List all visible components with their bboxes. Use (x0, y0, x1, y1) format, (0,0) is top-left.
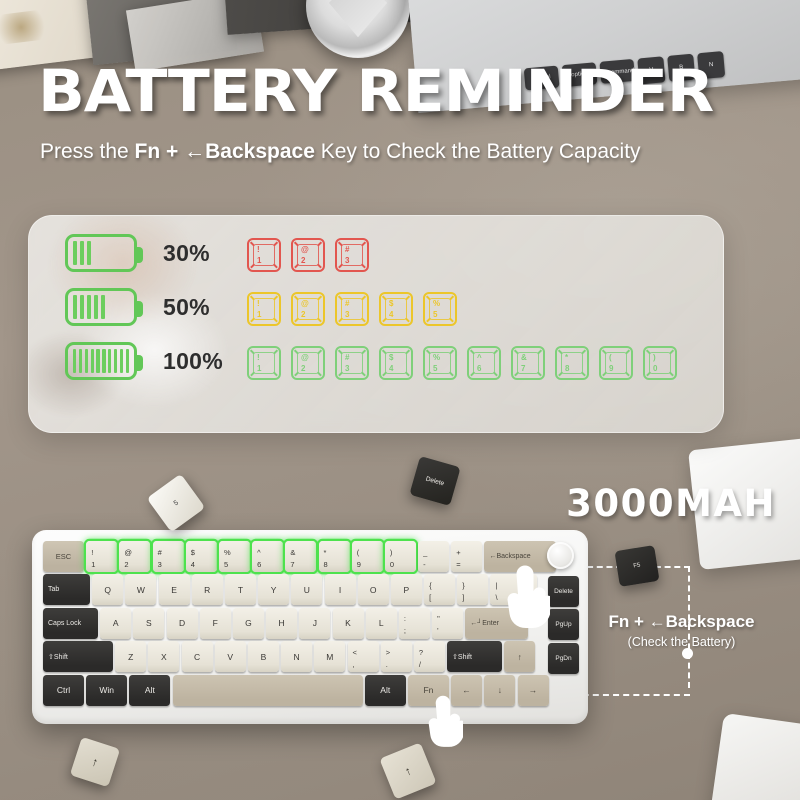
key-label: ← (462, 685, 471, 695)
battery-bar (126, 349, 129, 373)
key-digit: 9 (609, 364, 613, 373)
key-digit: 3 (345, 310, 349, 319)
key-symbol: & (521, 353, 527, 362)
key-label: X (161, 652, 167, 662)
key-symbol: # (345, 353, 349, 362)
keyboard-row-bottom: CtrlWinAltAltFn←↓→ (43, 675, 578, 706)
callout-main-text: Fn + ←Backspace (589, 612, 774, 632)
key-digit: 5 (224, 560, 228, 569)
key-label: C (194, 652, 200, 662)
key-symbol: & (290, 548, 295, 557)
key-symbol: # (158, 548, 162, 557)
battery-icon-30 (65, 234, 137, 272)
volume-knob[interactable] (547, 542, 574, 569)
keyboard-key-i[interactable]: I (325, 574, 356, 605)
key-label: Fn (423, 685, 433, 695)
subtitle-post: Key to Check the Battery Capacity (315, 140, 641, 163)
key-label: I (339, 585, 341, 595)
key-outline: (9 (599, 346, 633, 380)
keyboard-key-5[interactable]: %5 (219, 541, 250, 572)
key-digit: / (419, 660, 421, 669)
keyboard-key-backspace[interactable]: ←Backspace (484, 541, 556, 572)
key-symbol: @ (301, 353, 309, 362)
battery-bar (80, 295, 84, 319)
subtitle-pre: Press the (40, 140, 135, 163)
keyboard-key-h[interactable]: H (266, 608, 297, 639)
key-outline: &7 (511, 346, 545, 380)
key-digit: 4 (389, 364, 393, 373)
key-digit: ] (462, 593, 464, 602)
keyboard-key-x[interactable]: X (148, 641, 179, 672)
keyboard-key-/[interactable]: ?/ (414, 641, 445, 672)
keyboard-key-f[interactable]: F (200, 608, 231, 639)
key-label: E (171, 585, 177, 595)
key-label: Caps Lock (48, 620, 81, 627)
subtitle-key: Fn + ←Backspace (135, 140, 315, 163)
key-label: K (345, 618, 351, 628)
key-symbol: $ (389, 299, 393, 308)
key-outline: !1 (247, 292, 281, 326)
keyboard-key-u[interactable]: U (291, 574, 322, 605)
key-digit: 5 (433, 364, 437, 373)
battery-percent-100: 100% (163, 348, 223, 375)
key-outline: %5 (423, 292, 457, 326)
key-symbol: ! (257, 353, 260, 362)
key-digit: 1 (257, 256, 261, 265)
key-symbol: ! (257, 299, 260, 308)
key-label: Win (99, 685, 114, 695)
key-outline: @2 (291, 238, 325, 272)
keyboard-key-shift[interactable]: ⇧Shift (447, 641, 502, 672)
key-label: Alt (380, 685, 390, 695)
keyboard-key-o[interactable]: O (358, 574, 389, 605)
keyboard-key-r[interactable]: R (192, 574, 223, 605)
key-digit: 1 (257, 364, 261, 373)
key-symbol: | (495, 581, 497, 590)
battery-bar (79, 349, 82, 373)
key-outline: $4 (379, 346, 413, 380)
keyboard-key-0[interactable]: )0 (385, 541, 416, 572)
keyboard-key-8[interactable]: *8 (319, 541, 350, 572)
key-symbol: > (386, 648, 390, 657)
key-symbol: ! (257, 245, 260, 254)
battery-bar (91, 349, 94, 373)
key-digit: , (353, 660, 355, 669)
key-symbol: @ (124, 548, 132, 557)
keyboard-key-alt[interactable]: Alt (129, 675, 170, 706)
battery-row-100: 100% (65, 342, 223, 380)
keyboard-key-w[interactable]: W (125, 574, 156, 605)
keyboard-key-enter[interactable]: ←┘Enter (465, 608, 528, 639)
battery-bar (102, 349, 105, 373)
battery-capacity-panel: 30% 50% 100% !1@2#3 !1@2#3$4%5 !1@2#3$4%… (28, 215, 724, 433)
key-digit: 6 (257, 560, 261, 569)
key-digit: 7 (290, 560, 294, 569)
key-symbol: % (433, 299, 440, 308)
page-subtitle: Press the Fn + ←Backspace Key to Check t… (40, 140, 641, 164)
key-digit: 2 (124, 560, 128, 569)
battery-bar (108, 349, 111, 373)
key-digit: 3 (345, 256, 349, 265)
callout-dot (682, 648, 693, 659)
battery-bar (85, 349, 88, 373)
key-outline: )0 (643, 346, 677, 380)
key-symbol: ! (91, 548, 93, 557)
key-symbol: ^ (477, 353, 482, 362)
keyboard-key-space[interactable]: ↓ (484, 675, 515, 706)
key-label: ↑ (518, 652, 522, 662)
keyboard-key-s[interactable]: S (133, 608, 164, 639)
key-symbol: ( (357, 548, 360, 557)
key-label: → (529, 685, 538, 695)
keyboard-key-2[interactable]: @2 (119, 541, 150, 572)
key-label: Alt (145, 685, 155, 695)
key-label: Z (128, 652, 133, 662)
key-label: Delete (554, 588, 573, 595)
key-outlines-50: !1@2#3$4%5 (247, 292, 457, 326)
keyboard-key-l[interactable]: L (366, 608, 397, 639)
key-symbol: } (462, 581, 465, 590)
key-digit: ' (437, 626, 438, 635)
white-object-bottom-right (709, 713, 800, 800)
battery-bar (101, 295, 105, 319)
keyboard-key-b[interactable]: B (248, 641, 279, 672)
key-symbol: # (345, 245, 349, 254)
mechanical-keyboard: ESC!1@2#3$4%5^6&7*8(9)0_-+=←Backspace Ta… (32, 530, 588, 724)
key-label: U (304, 585, 310, 595)
keyboard-key-k[interactable]: K (333, 608, 364, 639)
key-label: D (179, 618, 185, 628)
keyboard-key-pgup[interactable]: PgUp (548, 609, 579, 640)
keyboard-key-][interactable]: }] (457, 574, 488, 605)
keyboard-key-'[interactable]: "' (432, 608, 463, 639)
battery-row-30: 30% (65, 234, 210, 272)
key-label: M (326, 652, 333, 662)
keyboard-row-qwerty: TabQWERTYUIOP{[}]|\ (43, 574, 578, 605)
key-label: PgDn (555, 655, 571, 662)
key-label: ←┘Enter (470, 620, 499, 627)
key-label: O (370, 585, 377, 595)
key-symbol: $ (191, 548, 195, 557)
key-digit: 2 (301, 364, 305, 373)
keyboard-key-space[interactable]: ↑ (504, 641, 535, 672)
key-label: Q (104, 585, 111, 595)
key-outlines-30: !1@2#3 (247, 238, 369, 272)
key-digit: - (423, 560, 426, 569)
keyboard-key-a[interactable]: A (100, 608, 131, 639)
key-digit: . (386, 660, 388, 669)
keyboard-key-9[interactable]: (9 (352, 541, 383, 572)
keyboard-key-j[interactable]: J (299, 608, 330, 639)
key-label: R (204, 585, 210, 595)
key-digit: 3 (158, 560, 162, 569)
keyboard-key-e[interactable]: E (159, 574, 190, 605)
keyboard-key-alt[interactable]: Alt (365, 675, 406, 706)
page-title: BATTERY REMINDER (38, 62, 713, 120)
keyboard-key-esc[interactable]: ESC (43, 541, 84, 572)
key-symbol: " (437, 614, 440, 623)
key-label: T (238, 585, 243, 595)
battery-bar (94, 295, 98, 319)
key-label: F (213, 618, 218, 628)
key-symbol: % (433, 353, 440, 362)
key-label: ⇧Shift (48, 653, 68, 661)
keyboard-key-v[interactable]: V (215, 641, 246, 672)
key-digit: 6 (477, 364, 481, 373)
keyboard-side-column: DeletePgUpPgDn (548, 576, 579, 674)
key-label: H (279, 618, 285, 628)
keyboard-key-1[interactable]: !1 (86, 541, 117, 572)
keyboard-key-pgdn[interactable]: PgDn (548, 643, 579, 674)
key-symbol: + (456, 548, 460, 557)
key-digit: 1 (91, 560, 95, 569)
battery-icon-100 (65, 342, 137, 380)
key-label: Tab (48, 586, 59, 593)
key-label: ESC (56, 552, 71, 561)
keyboard-key-z[interactable]: Z (115, 641, 146, 672)
key-symbol: ) (390, 548, 393, 557)
key-digit: 2 (301, 310, 305, 319)
callout-block: Fn + ←Backspace (Check the Battery) (589, 612, 774, 649)
keyboard-key-delete[interactable]: Delete (548, 576, 579, 607)
camera-lens (306, 0, 410, 58)
keyboard-key-q[interactable]: Q (92, 574, 123, 605)
key-digit: 8 (565, 364, 569, 373)
key-label: J (313, 618, 317, 628)
keyboard-key-shift[interactable]: ⇧Shift (43, 641, 113, 672)
key-label: V (227, 652, 233, 662)
key-label: PgUp (555, 621, 571, 628)
keyboard-key-c[interactable]: C (182, 641, 213, 672)
key-digit: \ (495, 593, 497, 602)
key-digit: 5 (433, 310, 437, 319)
key-label: Y (271, 585, 277, 595)
keyboard-key-m[interactable]: M (314, 641, 345, 672)
key-outline: @2 (291, 346, 325, 380)
keyboard-key-3[interactable]: #3 (153, 541, 184, 572)
key-digit: 1 (257, 310, 261, 319)
keyboard-key--[interactable]: _- (418, 541, 449, 572)
keyboard-key-7[interactable]: &7 (285, 541, 316, 572)
keyboard-key-space[interactable] (173, 675, 363, 706)
key-symbol: : (404, 614, 406, 623)
keyboard-row-home: Caps LockASDFGHJKL:;"'←┘Enter (43, 608, 578, 639)
keyboard-row-number: ESC!1@2#3$4%5^6&7*8(9)0_-+=←Backspace (43, 541, 578, 572)
key-symbol: < (353, 648, 357, 657)
key-outline: !1 (247, 238, 281, 272)
battery-percent-50: 50% (163, 294, 210, 321)
key-symbol: _ (423, 548, 427, 557)
battery-bar (120, 349, 123, 373)
keyboard-key-tab[interactable]: Tab (43, 574, 90, 605)
keyboard-key-space[interactable]: ← (451, 675, 482, 706)
key-symbol: @ (301, 245, 309, 254)
keyboard-key-[[interactable]: {[ (424, 574, 455, 605)
keyboard-key-y[interactable]: Y (258, 574, 289, 605)
key-digit: ; (404, 626, 406, 635)
key-symbol: ) (653, 353, 656, 362)
key-outline: @2 (291, 292, 325, 326)
key-outline: !1 (247, 346, 281, 380)
keyboard-key-6[interactable]: ^6 (252, 541, 283, 572)
key-outline: *8 (555, 346, 589, 380)
keyboard-key-space[interactable]: → (518, 675, 549, 706)
callout-sub-text: (Check the Battery) (589, 635, 774, 649)
battery-percent-30: 30% (163, 240, 210, 267)
key-label: B (261, 652, 267, 662)
battery-bar (80, 241, 84, 265)
key-label: A (113, 618, 119, 628)
battery-icon-50 (65, 288, 137, 326)
keyboard-key-\[interactable]: |\ (490, 574, 537, 605)
key-label: W (137, 585, 145, 595)
battery-capacity-label: 3000MAH (566, 482, 776, 525)
keyboard-key-;[interactable]: :; (399, 608, 430, 639)
key-symbol: ? (419, 648, 423, 657)
key-digit: 2 (301, 256, 305, 265)
keyboard-key-caps-lock[interactable]: Caps Lock (43, 608, 98, 639)
key-outline: $4 (379, 292, 413, 326)
key-digit: 8 (324, 560, 328, 569)
key-symbol: { (429, 581, 432, 590)
battery-bar (87, 295, 91, 319)
key-digit: 0 (390, 560, 394, 569)
key-digit: 0 (653, 364, 657, 373)
key-symbol: ( (609, 353, 612, 362)
keyboard-key-win[interactable]: Win (86, 675, 127, 706)
key-digit: 4 (389, 310, 393, 319)
keyboard-key-d[interactable]: D (167, 608, 198, 639)
keyboard-key-n[interactable]: N (281, 641, 312, 672)
key-outlines-100: !1@2#3$4%5^6&7*8(9)0 (247, 346, 677, 380)
keyboard-row-shift: ⇧ShiftZXCVBNM<,>.?/⇧Shift↑ (43, 641, 578, 672)
keyboard-key-,[interactable]: <, (348, 641, 379, 672)
keyboard-key-fn[interactable]: Fn (408, 675, 449, 706)
key-digit: 7 (521, 364, 525, 373)
key-symbol: * (324, 548, 327, 557)
key-symbol: ^ (257, 548, 261, 557)
key-symbol: @ (301, 299, 309, 308)
key-label: G (245, 618, 252, 628)
key-digit: 9 (357, 560, 361, 569)
key-outline: ^6 (467, 346, 501, 380)
key-label: ↓ (498, 685, 502, 695)
keyboard-key-t[interactable]: T (225, 574, 256, 605)
key-symbol: # (345, 299, 349, 308)
key-digit: = (456, 560, 460, 569)
key-digit: 3 (345, 364, 349, 373)
battery-bar (73, 295, 77, 319)
key-label: S (146, 618, 152, 628)
key-label: Ctrl (57, 685, 70, 695)
battery-bar (73, 349, 76, 373)
keyboard-key-ctrl[interactable]: Ctrl (43, 675, 84, 706)
key-symbol: % (224, 548, 231, 557)
keyboard-key-=[interactable]: += (451, 541, 482, 572)
key-symbol: $ (389, 353, 393, 362)
dashed-line-right (688, 566, 690, 688)
key-label: ←Backspace (489, 553, 530, 560)
battery-bar (96, 349, 99, 373)
key-digit: 4 (191, 560, 195, 569)
keyboard-key-p[interactable]: P (391, 574, 422, 605)
key-outline: #3 (335, 292, 369, 326)
key-digit: [ (429, 593, 431, 602)
battery-bar (73, 241, 77, 265)
key-outline: %5 (423, 346, 457, 380)
keyboard-key-g[interactable]: G (233, 608, 264, 639)
key-outline: #3 (335, 238, 369, 272)
key-label: L (379, 618, 384, 628)
key-label: N (294, 652, 300, 662)
key-outline: #3 (335, 346, 369, 380)
battery-bar (87, 241, 91, 265)
keyboard-key-4[interactable]: $4 (186, 541, 217, 572)
key-label: P (404, 585, 410, 595)
battery-bar (114, 349, 117, 373)
battery-row-50: 50% (65, 288, 210, 326)
key-symbol: * (565, 353, 568, 362)
loose-keycap-black: F5 (614, 545, 659, 587)
keyboard-key-.[interactable]: >. (381, 641, 412, 672)
key-label: ⇧Shift (452, 653, 472, 661)
